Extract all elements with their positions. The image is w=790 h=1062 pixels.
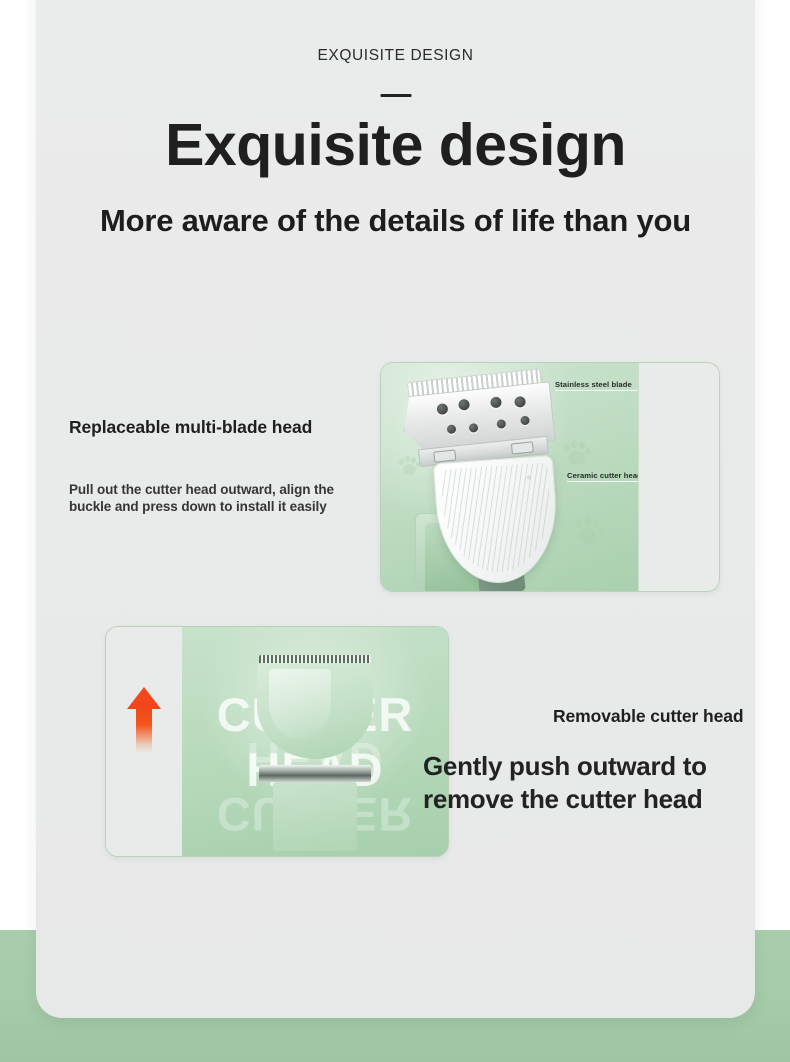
product-image-blade-assembly: Stainless steel blade Ceramic cutter hea… (380, 362, 720, 592)
trimmer-metal-ring (259, 765, 371, 782)
page-eyebrow: EXQUISITE DESIGN (36, 47, 755, 65)
feature-1-body: Pull out the cutter head outward, align … (69, 481, 369, 515)
shot1-photo-area: Stainless steel blade Ceramic cutter hea… (381, 363, 639, 591)
page-card: EXQUISITE DESIGN Exquisite design More a… (36, 0, 755, 1018)
callout-ceramic-cutter-head: Ceramic cutter head (567, 471, 642, 482)
trimmer-cutter-head (257, 663, 373, 759)
pet-trimmer (257, 655, 373, 851)
shot2-photo-area: CUTTER HEAD CUTTER HEAD (182, 627, 448, 856)
page-title: Exquisite design (36, 106, 755, 184)
feature-2-title: Removable cutter head (553, 706, 743, 727)
shot2-arrow-panel (106, 627, 183, 856)
feature-1-title: Replaceable multi-blade head (69, 417, 312, 438)
shot1-arrow-panel (638, 363, 719, 591)
stainless-steel-blade (399, 368, 555, 469)
header-divider (380, 94, 411, 97)
page-subtitle: More aware of the details of life than y… (36, 199, 755, 243)
callout-stainless-steel-blade: Stainless steel blade (555, 380, 632, 391)
feature-2-body: Gently push outward to remove the cutter… (423, 750, 753, 816)
product-image-removable-head: CUTTER HEAD CUTTER HEAD (105, 626, 449, 857)
trimmer-handle (273, 782, 357, 851)
arrow-up-icon (120, 687, 168, 755)
